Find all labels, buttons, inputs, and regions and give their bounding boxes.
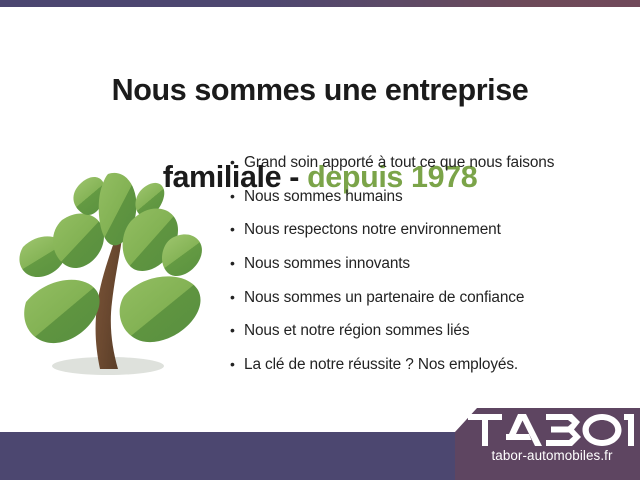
brand-letter-a [506, 414, 542, 446]
bullet-marker-icon: • [230, 348, 244, 382]
list-item-label: Nous sommes humains [244, 180, 403, 214]
list-item-label: Grand soin apporté à tout ce que nous fa… [244, 146, 554, 180]
list-item: • Nous sommes humains [230, 180, 630, 214]
list-item-label: Nous sommes un partenaire de confiance [244, 281, 524, 315]
benefits-list: • Grand soin apporté à tout ce que nous … [230, 146, 630, 382]
slide-canvas: Nous sommes une entreprise familiale - d… [0, 0, 640, 480]
brand-letter-r-bowl [624, 414, 631, 420]
bullet-marker-icon: • [230, 213, 244, 247]
bullet-marker-icon: • [230, 281, 244, 315]
page-title-line-1: Nous sommes une entreprise [0, 69, 640, 112]
list-item: • Nous et notre région sommes liés [230, 314, 630, 348]
bullet-marker-icon: • [230, 180, 244, 214]
tree-leaf [24, 280, 99, 343]
brand-url[interactable]: tabor-automobiles.fr [468, 448, 636, 463]
brand-letter-b [546, 414, 581, 446]
tree-leaf [120, 276, 201, 342]
list-item-label: La clé de notre réussite ? Nos employés. [244, 348, 518, 382]
list-item: • La clé de notre réussite ? Nos employé… [230, 348, 630, 382]
bullet-marker-icon: • [230, 146, 244, 180]
tree-leaf [53, 213, 104, 268]
list-item: • Nous sommes innovants [230, 247, 630, 281]
list-item: • Nous respectons notre environnement [230, 213, 630, 247]
tree-illustration [12, 150, 217, 390]
bullet-marker-icon: • [230, 314, 244, 348]
list-item: • Nous sommes un partenaire de confiance [230, 281, 630, 315]
list-item: • Grand soin apporté à tout ce que nous … [230, 146, 630, 180]
brand-wordmark [468, 412, 636, 448]
top-accent-bar [0, 0, 640, 7]
list-item-label: Nous et notre région sommes liés [244, 314, 469, 348]
list-item-label: Nous sommes innovants [244, 247, 410, 281]
brand-letter-o [583, 414, 622, 446]
list-item-label: Nous respectons notre environnement [244, 213, 501, 247]
bullet-marker-icon: • [230, 247, 244, 281]
brand-letter-t [468, 414, 502, 446]
brand-logo[interactable]: tabor-automobiles.fr [468, 412, 636, 474]
footer-left-bar [0, 432, 470, 480]
